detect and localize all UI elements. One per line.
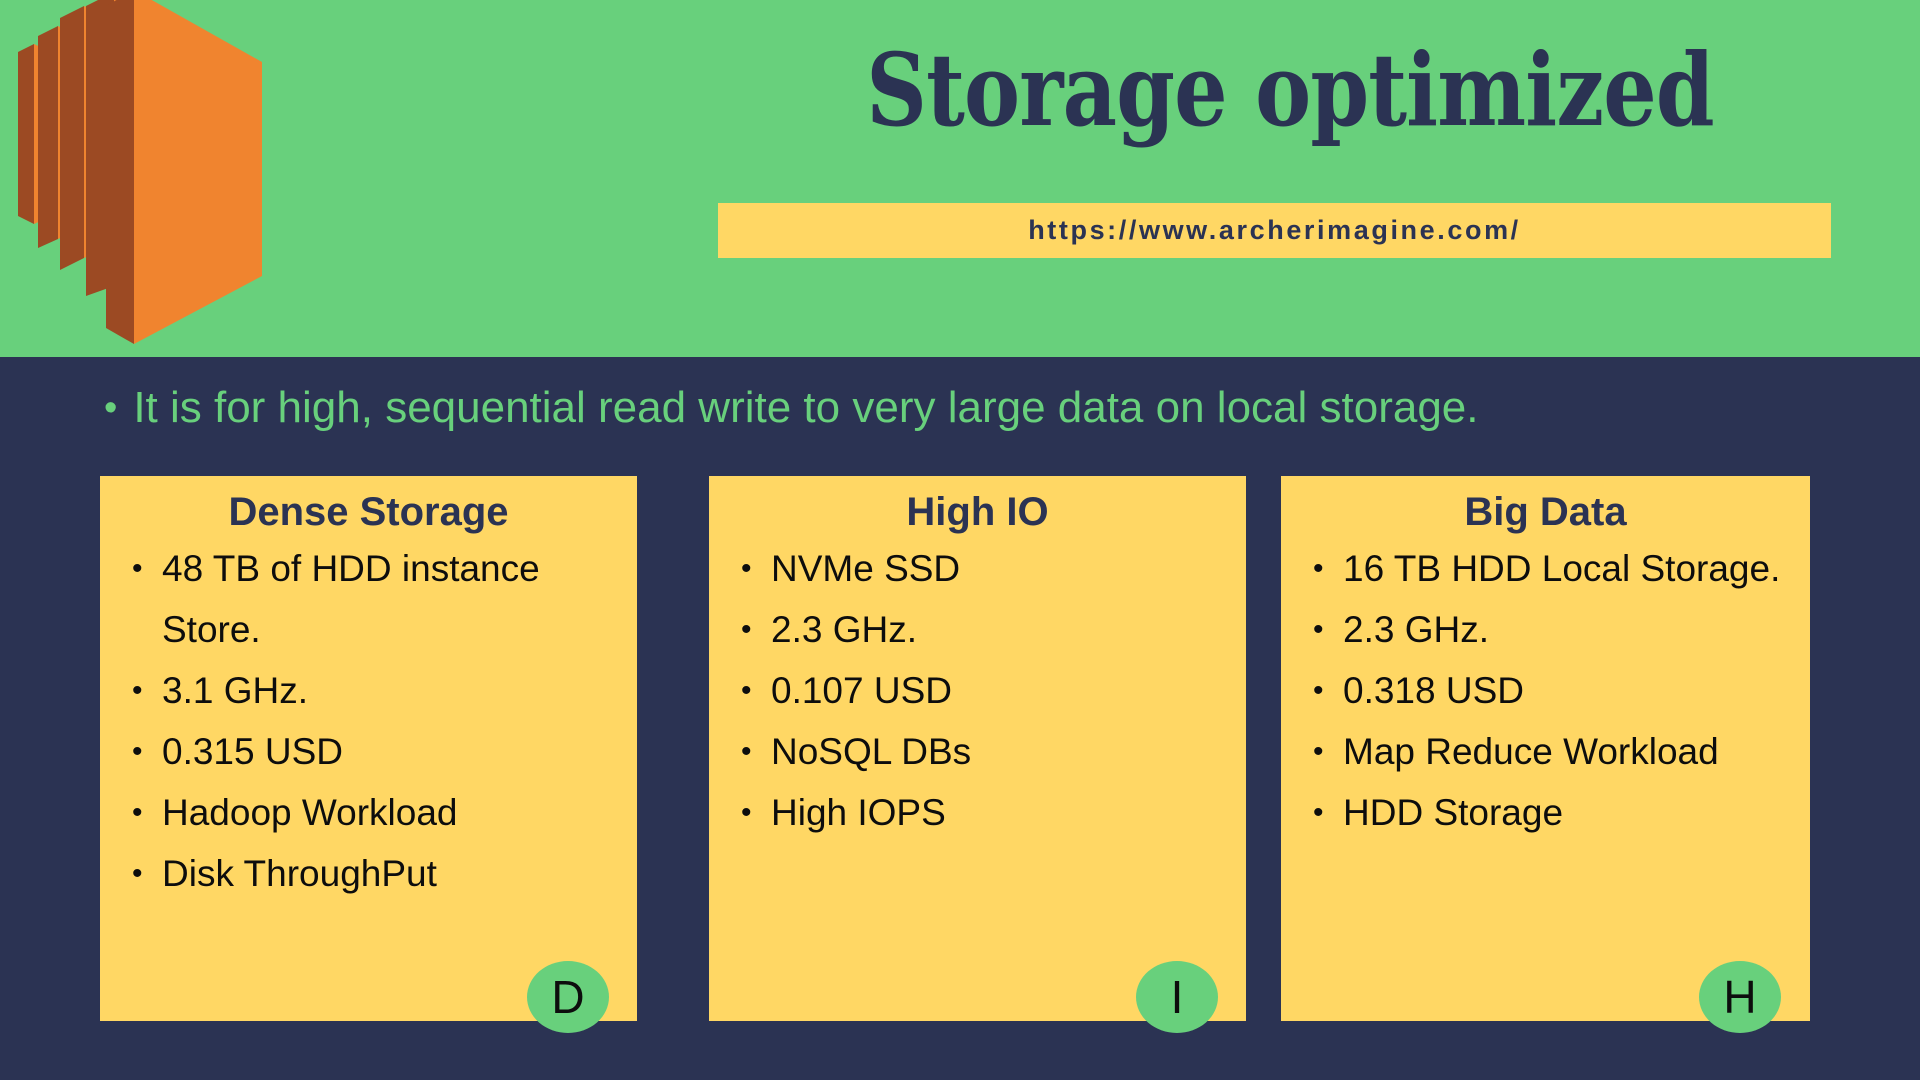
list-item: 3.1 GHz.	[114, 660, 623, 721]
page-title: Storage optimized	[794, 36, 1785, 144]
list-item: NVMe SSD	[723, 538, 1232, 599]
aws-ec2-logo-icon	[8, 0, 328, 356]
list-item: Hadoop Workload	[114, 782, 623, 843]
card-dense-storage[interactable]: Dense Storage 48 TB of HDD instance Stor…	[100, 476, 637, 1021]
cards-row: Dense Storage 48 TB of HDD instance Stor…	[0, 476, 1920, 1021]
list-item: HDD Storage	[1295, 782, 1796, 843]
url-text: https://www.archerimagine.com/	[1028, 215, 1521, 246]
list-item: Map Reduce Workload	[1295, 721, 1796, 782]
card-high-io[interactable]: High IO NVMe SSD 2.3 GHz. 0.107 USD NoSQ…	[709, 476, 1246, 1021]
lead-bullet: • It is for high, sequential read write …	[104, 382, 1479, 434]
card-title: Big Data	[1295, 486, 1796, 538]
card-title: High IO	[723, 486, 1232, 538]
card-feature-list: 48 TB of HDD instance Store. 3.1 GHz. 0.…	[114, 538, 623, 904]
list-item: NoSQL DBs	[723, 721, 1232, 782]
card-big-data[interactable]: Big Data 16 TB HDD Local Storage. 2.3 GH…	[1281, 476, 1810, 1021]
slide-root: Storage optimized https://www.archerimag…	[0, 0, 1920, 1080]
list-item: 0.107 USD	[723, 660, 1232, 721]
list-item: 0.318 USD	[1295, 660, 1796, 721]
status-badge: D	[527, 961, 609, 1033]
status-badge: I	[1136, 961, 1218, 1033]
list-item: 2.3 GHz.	[723, 599, 1232, 660]
list-item: 48 TB of HDD instance Store.	[114, 538, 623, 660]
status-badge: H	[1699, 961, 1781, 1033]
card-title: Dense Storage	[114, 486, 623, 538]
list-item: Disk ThroughPut	[114, 843, 623, 904]
url-bar[interactable]: https://www.archerimagine.com/	[718, 203, 1831, 258]
card-feature-list: NVMe SSD 2.3 GHz. 0.107 USD NoSQL DBs Hi…	[723, 538, 1232, 843]
lead-bullet-text: It is for high, sequential read write to…	[133, 382, 1478, 434]
list-item: 0.315 USD	[114, 721, 623, 782]
list-item: 2.3 GHz.	[1295, 599, 1796, 660]
card-feature-list: 16 TB HDD Local Storage. 2.3 GHz. 0.318 …	[1295, 538, 1796, 843]
bullet-dot-icon: •	[104, 382, 117, 434]
list-item: High IOPS	[723, 782, 1232, 843]
list-item: 16 TB HDD Local Storage.	[1295, 538, 1796, 599]
